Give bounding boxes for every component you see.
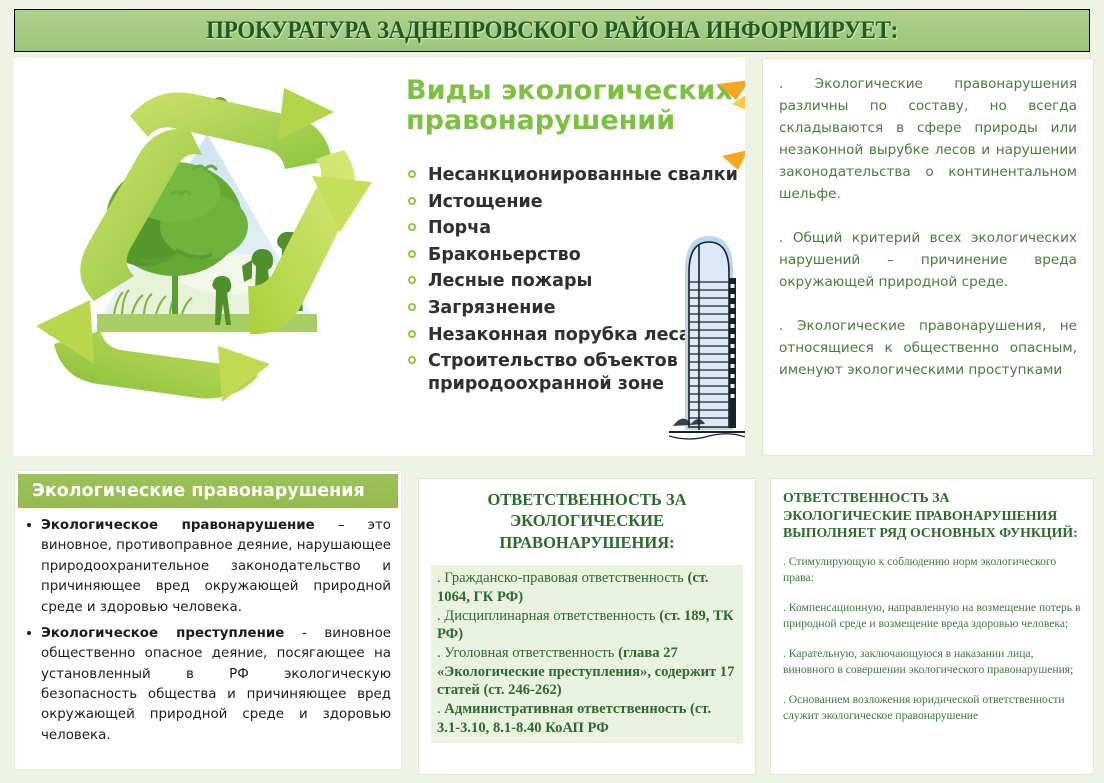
definition-body: - виновное общественно опасное деяние, п…: [41, 626, 391, 743]
illustration-heading-line1: Виды экологических: [406, 76, 745, 106]
circle-bullet-icon: [408, 303, 416, 311]
illustration-heading: Виды экологических правонарушений: [406, 76, 745, 136]
liability-item: . Гражданско-правовая ответственность (с…: [437, 569, 737, 606]
list-item-label: Истощение: [428, 192, 543, 212]
list-item: Экологическое правонарушение – это винов…: [41, 516, 391, 618]
liability-item-plain: . Гражданско-правовая ответственность: [437, 570, 687, 586]
definition-term: Экологическое преступление: [41, 626, 284, 641]
definition-term: Экологическое правонарушение: [41, 518, 315, 533]
page-title: ПРОКУРАТУРА ЗАДНЕПРОВСКОГО РАЙОНА ИНФОРМ…: [206, 17, 898, 45]
liability-item-plain: . Дисциплинарная ответственность: [437, 608, 659, 624]
functions-panel: ОТВЕТСТВЕННОСТЬ ЗА ЭКОЛОГИЧЕСКИЕ ПРАВОНА…: [770, 478, 1094, 775]
liability-item: . Административная ответственность (ст. …: [437, 700, 737, 737]
definitions-panel: Экологические правонарушения Экологическ…: [14, 470, 402, 770]
skyscraper-icon: [669, 230, 745, 445]
liability-types-body: . Гражданско-правовая ответственность (с…: [431, 565, 743, 743]
list-item-label: Браконьерство: [428, 245, 581, 265]
circle-bullet-icon: [408, 250, 416, 258]
list-item-label: Загрязнение: [428, 298, 556, 318]
liability-item-plain: . Уголовная ответственность: [437, 645, 618, 661]
circle-bullet-icon: [408, 356, 416, 364]
page-title-banner: ПРОКУРАТУРА ЗАДНЕПРОВСКОГО РАЙОНА ИНФОРМ…: [14, 9, 1090, 52]
function-item: . Основанием возложения юридической отве…: [783, 692, 1081, 725]
liability-item-bold: Административная ответственность (ст. 3.…: [437, 701, 711, 736]
recycle-symbol-icon: [22, 64, 392, 449]
intro-paragraph-1: . Экологические правонарушения различны …: [779, 73, 1077, 205]
definitions-panel-header: Экологические правонарушения: [18, 474, 398, 508]
intro-text-panel: . Экологические правонарушения различны …: [762, 58, 1094, 456]
function-item: . Компенсационную, направленную на возме…: [783, 600, 1081, 633]
intro-paragraph-3: . Экологические правонарушения, не относ…: [779, 315, 1077, 381]
poster-root: ПРОКУРАТУРА ЗАДНЕПРОВСКОГО РАЙОНА ИНФОРМ…: [0, 0, 1104, 783]
definitions-list: Экологическое правонарушение – это винов…: [15, 508, 401, 746]
illustration-panel: Виды экологических правонарушений Несанк…: [14, 58, 745, 456]
list-item-label: Несанкционированные свалки: [428, 165, 738, 185]
function-item: . Карательную, заключающуюся в наказании…: [783, 646, 1081, 679]
list-item-label: Лесные пожары: [428, 271, 592, 291]
liability-types-panel: ОТВЕТСТВЕННОСТЬ ЗА ЭКОЛОГИЧЕСКИЕ ПРАВОНА…: [418, 478, 756, 775]
function-item: . Стимулирующую к соблюдению норм эколог…: [783, 554, 1081, 587]
list-item: Экологическое преступление - виновное об…: [41, 624, 391, 746]
circle-bullet-icon: [408, 330, 416, 338]
definitions-panel-title: Экологические правонарушения: [18, 481, 365, 501]
liability-types-title: ОТВЕТСТВЕННОСТЬ ЗА ЭКОЛОГИЧЕСКИЕ ПРАВОНА…: [431, 489, 743, 553]
list-item-label: Незаконная порубка леса: [428, 325, 691, 345]
list-item: Истощение: [406, 191, 736, 214]
list-item: Несанкционированные свалки: [406, 164, 736, 187]
functions-title: ОТВЕТСТВЕННОСТЬ ЗА ЭКОЛОГИЧЕСКИЕ ПРАВОНА…: [783, 489, 1081, 542]
intro-paragraph-2: . Общий критерий всех экологических нару…: [779, 227, 1077, 293]
list-item-label: Строительство объектов в: [428, 351, 695, 371]
illustration: Виды экологических правонарушений Несанк…: [14, 58, 745, 456]
circle-bullet-icon: [408, 276, 416, 284]
circle-bullet-icon: [408, 197, 416, 205]
liability-item: . Дисциплинарная ответственность (ст. 18…: [437, 607, 737, 644]
circle-bullet-icon: [408, 223, 416, 231]
list-item-label: Порча: [428, 218, 491, 238]
liability-item: . Уголовная ответственность (глава 27 «Э…: [437, 644, 737, 700]
illustration-heading-line2: правонарушений: [406, 106, 745, 136]
circle-bullet-icon: [408, 170, 416, 178]
